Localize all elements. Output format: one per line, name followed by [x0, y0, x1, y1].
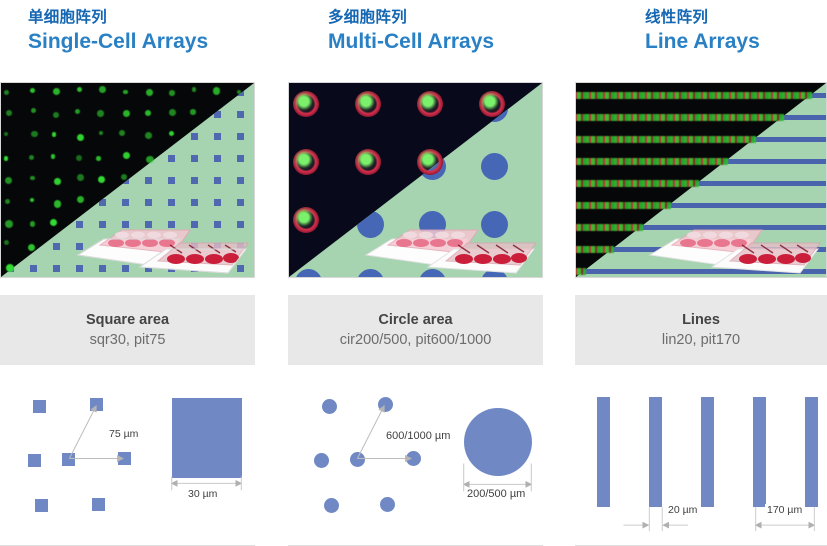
column-header-line: 线性阵列 Line Arrays [575, 0, 827, 82]
spec-title-single-cell: Square area [86, 312, 169, 328]
pattern-square-dot [191, 133, 198, 140]
size-label-square: 30 µm [186, 488, 219, 500]
size-dimension-line-square [0, 380, 255, 545]
pattern-square-dot [53, 243, 60, 250]
fluorescent-cell [50, 219, 57, 226]
size-dimension-line-circle [288, 380, 543, 545]
spec-box-line: Lines lin20, pit170 [575, 295, 827, 365]
fluorescent-cell-line [575, 158, 728, 165]
fluorescent-cell-colony [293, 91, 319, 117]
fluorescent-cell [53, 88, 60, 95]
fluorescent-cell [213, 87, 221, 95]
pattern-square-dot [214, 133, 221, 140]
chamber-slides-illustration [642, 195, 822, 275]
micropattern-product-grid: 单细胞阵列 Single-Cell Arrays 多细胞阵列 Multi-Cel… [0, 0, 827, 546]
pattern-square-dot [237, 155, 244, 162]
diagram-square-array: 75 µm 30 µm [0, 380, 255, 546]
micrograph-line [575, 82, 827, 278]
spec-box-multi-cell: Circle area cir200/500, pit600/1000 [288, 295, 543, 365]
fluorescent-cell [190, 109, 195, 114]
line-dimension-lines [575, 380, 827, 545]
fluorescent-cell [5, 199, 10, 204]
fluorescent-cell [146, 89, 153, 96]
pattern-square-dot [237, 177, 244, 184]
fluorescent-cell [4, 90, 9, 95]
fluorescent-cell-line [575, 114, 784, 121]
chamber-slides-illustration [358, 195, 538, 275]
chamber-slides-illustration [70, 195, 250, 275]
pattern-square-dot [30, 265, 37, 272]
fluorescent-cell-colony [417, 91, 443, 117]
pattern-square-dot [214, 177, 221, 184]
fluorescent-cell-colony [355, 91, 381, 117]
fluorescent-cell-line [575, 180, 699, 187]
fluorescent-cell [123, 90, 127, 94]
fluorescent-cell-colony [479, 91, 505, 117]
fluorescent-cell-line [575, 246, 614, 253]
fluorescent-cell-line [575, 224, 643, 231]
pattern-square-dot [168, 155, 175, 162]
fluorescent-cell [145, 110, 151, 116]
fluorescent-cell [30, 198, 34, 202]
fluorescent-cell [53, 112, 59, 118]
column-header-multi-cell: 多细胞阵列 Multi-Cell Arrays [288, 0, 543, 82]
fluorescent-cell [51, 154, 55, 158]
fluorescent-cell [31, 131, 38, 138]
fluorescent-cell [192, 87, 197, 92]
diagram-circle-array: 600/1000 µm 200/500 µm [288, 380, 543, 546]
pattern-square-dot [145, 177, 152, 184]
fluorescent-cell-line [575, 92, 812, 99]
fluorescent-cell [97, 110, 103, 116]
pattern-square-dot [237, 111, 244, 118]
fluorescent-cell [5, 177, 12, 184]
fluorescent-cell-colony [417, 149, 443, 175]
pattern-square-dot [168, 177, 175, 184]
size-label-circle: 200/500 µm [465, 488, 527, 500]
fluorescent-cell [54, 200, 62, 208]
fluorescent-cell [99, 86, 106, 93]
fluorescent-cell [169, 90, 174, 95]
fluorescent-cell [5, 220, 13, 228]
column-title-en-multi-cell: Multi-Cell Arrays [288, 28, 543, 56]
fluorescent-cell [145, 132, 152, 139]
fluorescent-cell [4, 156, 9, 161]
column-header-single-cell: 单细胞阵列 Single-Cell Arrays [0, 0, 255, 82]
spec-title-line: Lines [682, 312, 720, 328]
column-title-en-single-cell: Single-Cell Arrays [0, 28, 255, 56]
pitch-label-line: 170 µm [765, 504, 804, 516]
column-title-cn-single-cell: 单细胞阵列 [0, 8, 255, 28]
fluorescent-cell [146, 156, 153, 163]
width-label-line: 20 µm [666, 504, 699, 516]
fluorescent-cell-line [575, 268, 586, 275]
fluorescent-cell-colony [355, 149, 381, 175]
micrograph-multi-cell [288, 82, 543, 278]
fluorescent-cell-line [575, 136, 756, 143]
spec-sub-line: lin20, pit170 [662, 332, 740, 348]
column-title-cn-line: 线性阵列 [575, 8, 827, 28]
spec-sub-multi-cell: cir200/500, pit600/1000 [340, 332, 492, 348]
fluorescent-cell-colony [293, 149, 319, 175]
fluorescent-cell-colony [293, 207, 319, 233]
pattern-square-dot [214, 155, 221, 162]
pattern-square-dot [191, 177, 198, 184]
column-title-en-line: Line Arrays [575, 28, 827, 56]
spec-box-single-cell: Square area sqr30, pit75 [0, 295, 255, 365]
fluorescent-cell [96, 156, 101, 161]
spec-sub-single-cell: sqr30, pit75 [90, 332, 166, 348]
pattern-square-dot [191, 155, 198, 162]
pattern-circle-dot [295, 269, 322, 278]
fluorescent-cell [76, 155, 82, 161]
fluorescent-cell [6, 110, 12, 116]
pattern-circle-dot [481, 153, 508, 180]
fluorescent-cell [28, 244, 35, 251]
diagram-line-array: 20 µm 170 µm [575, 380, 827, 546]
pattern-square-dot [53, 265, 60, 272]
pattern-square-dot [237, 133, 244, 140]
spec-title-multi-cell: Circle area [378, 312, 452, 328]
fluorescent-cell [77, 174, 84, 181]
fluorescent-cell [54, 178, 61, 185]
column-title-cn-multi-cell: 多细胞阵列 [288, 8, 543, 28]
micrograph-single-cell [0, 82, 255, 278]
fluorescent-cell [6, 264, 14, 272]
fluorescent-cell [121, 174, 127, 180]
